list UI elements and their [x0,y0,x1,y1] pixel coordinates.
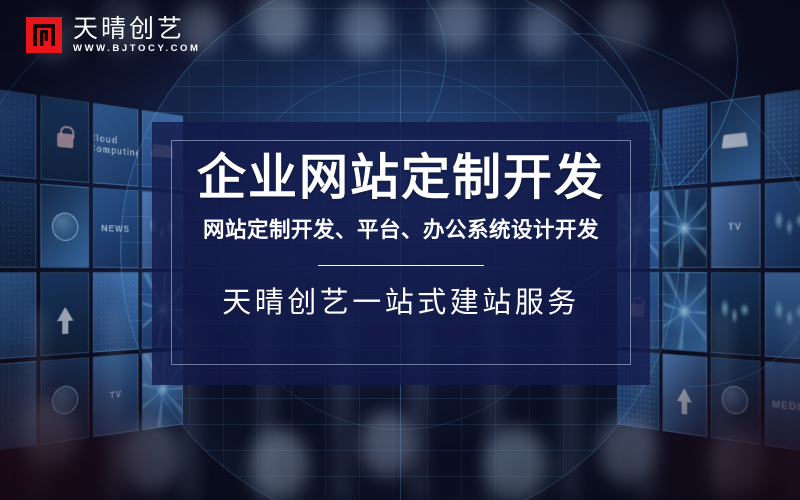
page-tagline: 天晴创艺一站式建站服务 [222,285,580,320]
site-logo[interactable]: 天晴创艺 WWW.BJTOCY.COM [26,16,201,54]
title-divider [318,265,484,267]
tocy-monogram-icon [26,17,62,53]
logo-text-group: 天晴创艺 WWW.BJTOCY.COM [73,16,201,54]
logo-website-url: WWW.BJTOCY.COM [73,44,201,54]
panel-content: 企业网站定制开发 网站定制开发、平台、办公系统设计开发 天晴创艺一站式建站服务 [152,122,650,385]
page-subtitle: 网站定制开发、平台、办公系统设计开发 [203,218,599,244]
promo-banner: Cloud Computing NEWS TV [0,0,800,500]
page-title: 企业网站定制开发 [197,152,605,205]
headline-panel: 企业网站定制开发 网站定制开发、平台、办公系统设计开发 天晴创艺一站式建站服务 [152,122,650,385]
logo-company-name: 天晴创艺 [73,16,201,41]
